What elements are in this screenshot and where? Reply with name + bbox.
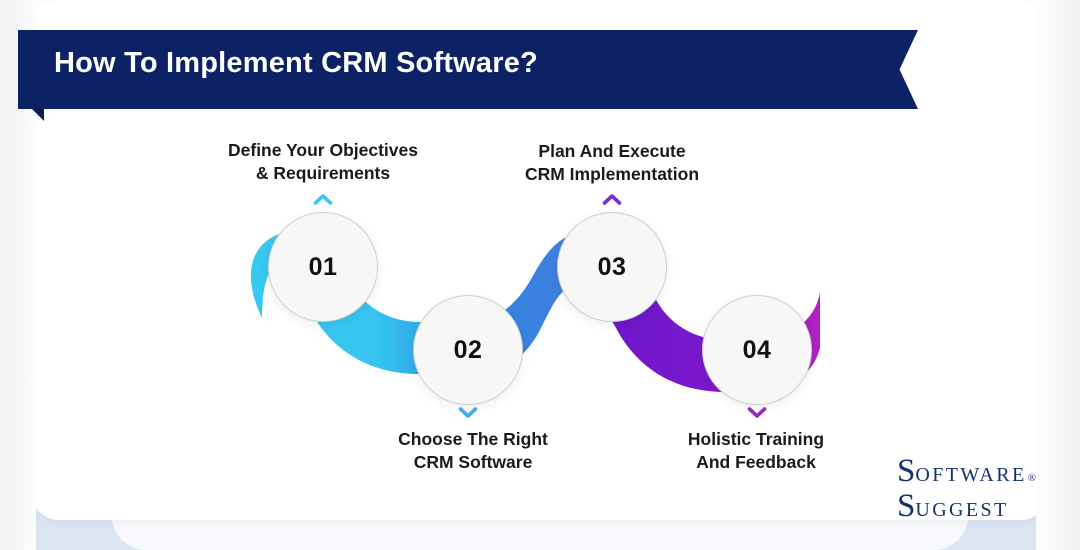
chevron-up-icon: [313, 192, 333, 206]
logo-word-suggest: uggest: [915, 500, 1008, 520]
step-node-04[interactable]: 04: [702, 295, 812, 405]
step-node-01[interactable]: 01: [268, 212, 378, 322]
step-label-01: Define Your Objectives & Requirements: [183, 139, 463, 185]
page-gutter-right: [1036, 0, 1080, 550]
logo-line-2: S uggest: [897, 490, 1036, 523]
chevron-down-icon: [458, 406, 478, 420]
step-label-04: Holistic Training And Feedback: [651, 428, 861, 474]
step-label-03: Plan And Execute CRM Implementation: [492, 140, 732, 186]
chevron-up-icon: [602, 192, 622, 206]
logo-line-1: S oftware ®: [897, 455, 1036, 488]
step-node-02[interactable]: 02: [413, 295, 523, 405]
step-node-03[interactable]: 03: [557, 212, 667, 322]
chevron-down-icon: [747, 406, 767, 420]
logo-word-software: oftware: [915, 465, 1026, 485]
logo-capital-s: S: [897, 455, 915, 488]
logo-capital-s-2: S: [897, 490, 915, 523]
infographic-canvas: How To Implement CRM Software? 01 02 03 …: [0, 0, 1080, 550]
brand-logo: S oftware ® S uggest: [897, 455, 1036, 523]
registered-trademark-icon: ®: [1028, 473, 1036, 484]
step-label-02: Choose The Right CRM Software: [338, 428, 608, 474]
